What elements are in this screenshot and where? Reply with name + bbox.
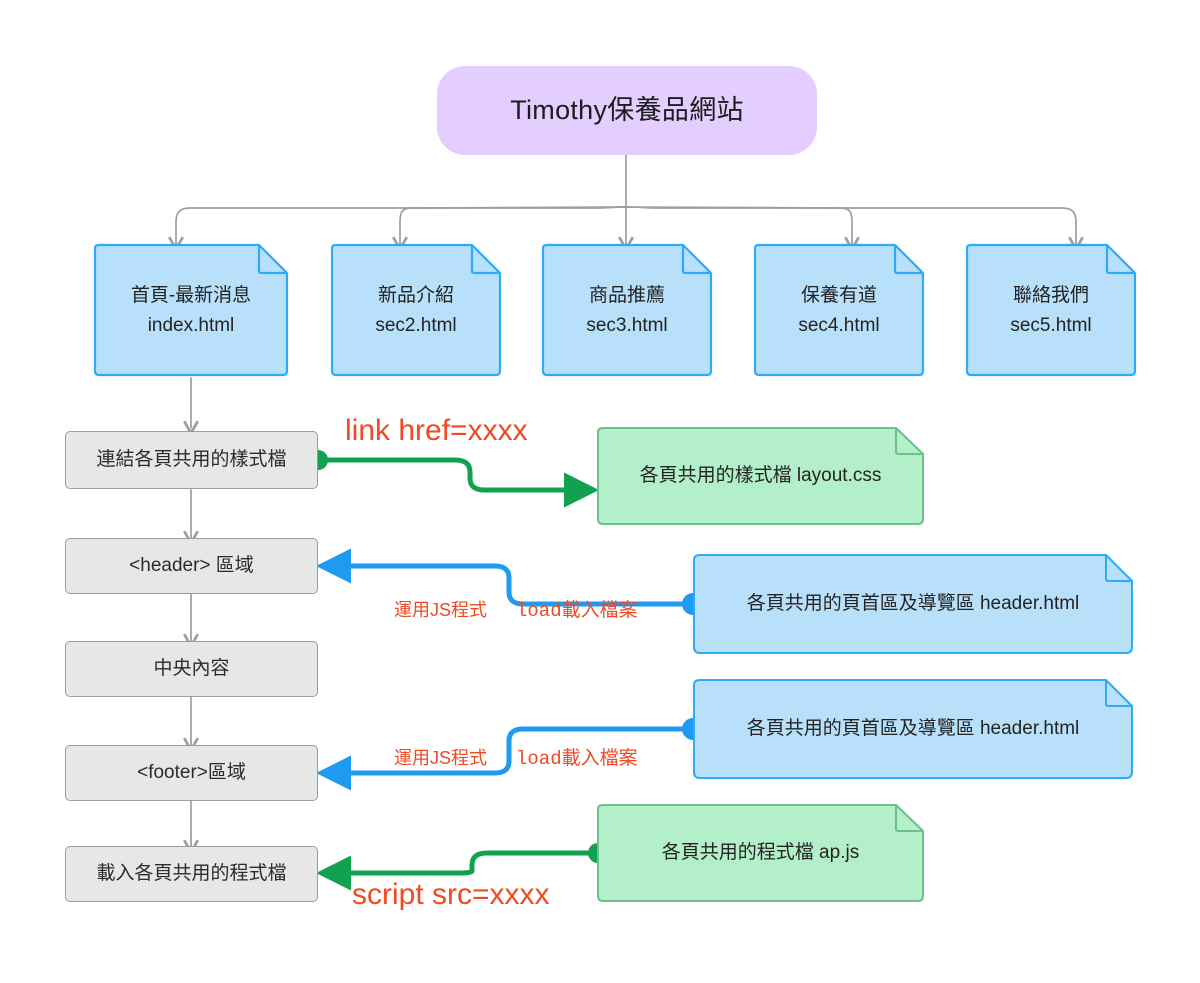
page-node-sec4[interactable]: 保養有道 sec4.html [753, 243, 925, 378]
resource-node-layout-css[interactable]: 各頁共用的樣式檔 layout.css [596, 426, 925, 526]
resource-node-ap-js[interactable]: 各頁共用的程式檔 ap.js [596, 803, 925, 903]
annotation-js-header-right: load載入檔案 [516, 595, 638, 622]
resource-label: 各頁共用的程式檔 ap.js [596, 803, 925, 903]
annotation-link-href: link href=xxxx [345, 414, 528, 448]
page-label: 商品推薦 sec3.html [541, 243, 713, 378]
page-node-sec5[interactable]: 聯絡我們 sec5.html [965, 243, 1137, 378]
page-label: 聯絡我們 sec5.html [965, 243, 1137, 378]
annotation-js-header-left: 運用JS程式 [394, 596, 487, 622]
step-node-header-region[interactable]: <header> 區域 [65, 538, 318, 594]
page-label: 首頁-最新消息 index.html [93, 243, 289, 378]
annotation-script-src: script src=xxxx [352, 878, 550, 912]
page-label: 新品介紹 sec2.html [330, 243, 502, 378]
annotation-js-footer-left: 運用JS程式 [394, 744, 487, 770]
page-label: 保養有道 sec4.html [753, 243, 925, 378]
page-node-index[interactable]: 首頁-最新消息 index.html [93, 243, 289, 378]
resource-label: 各頁共用的樣式檔 layout.css [596, 426, 925, 526]
resource-node-header-html-top[interactable]: 各頁共用的頁首區及導覽區 header.html [692, 553, 1134, 655]
resource-label: 各頁共用的頁首區及導覽區 header.html [692, 553, 1134, 655]
diagram-canvas: Timothy保養品網站 首頁-最新消息 index.html 新品介紹 sec… [0, 0, 1200, 983]
step-node-center-content[interactable]: 中央內容 [65, 641, 318, 697]
page-node-sec3[interactable]: 商品推薦 sec3.html [541, 243, 713, 378]
root-node-title[interactable]: Timothy保養品網站 [437, 66, 817, 155]
step-node-load-script[interactable]: 載入各頁共用的程式檔 [65, 846, 318, 902]
page-node-sec2[interactable]: 新品介紹 sec2.html [330, 243, 502, 378]
step-node-footer-region[interactable]: <footer>區域 [65, 745, 318, 801]
resource-node-header-html-bottom[interactable]: 各頁共用的頁首區及導覽區 header.html [692, 678, 1134, 780]
annotation-js-footer-right: load載入檔案 [516, 743, 638, 770]
step-node-link-stylesheet[interactable]: 連結各頁共用的樣式檔 [65, 431, 318, 489]
resource-label: 各頁共用的頁首區及導覽區 header.html [692, 678, 1134, 780]
